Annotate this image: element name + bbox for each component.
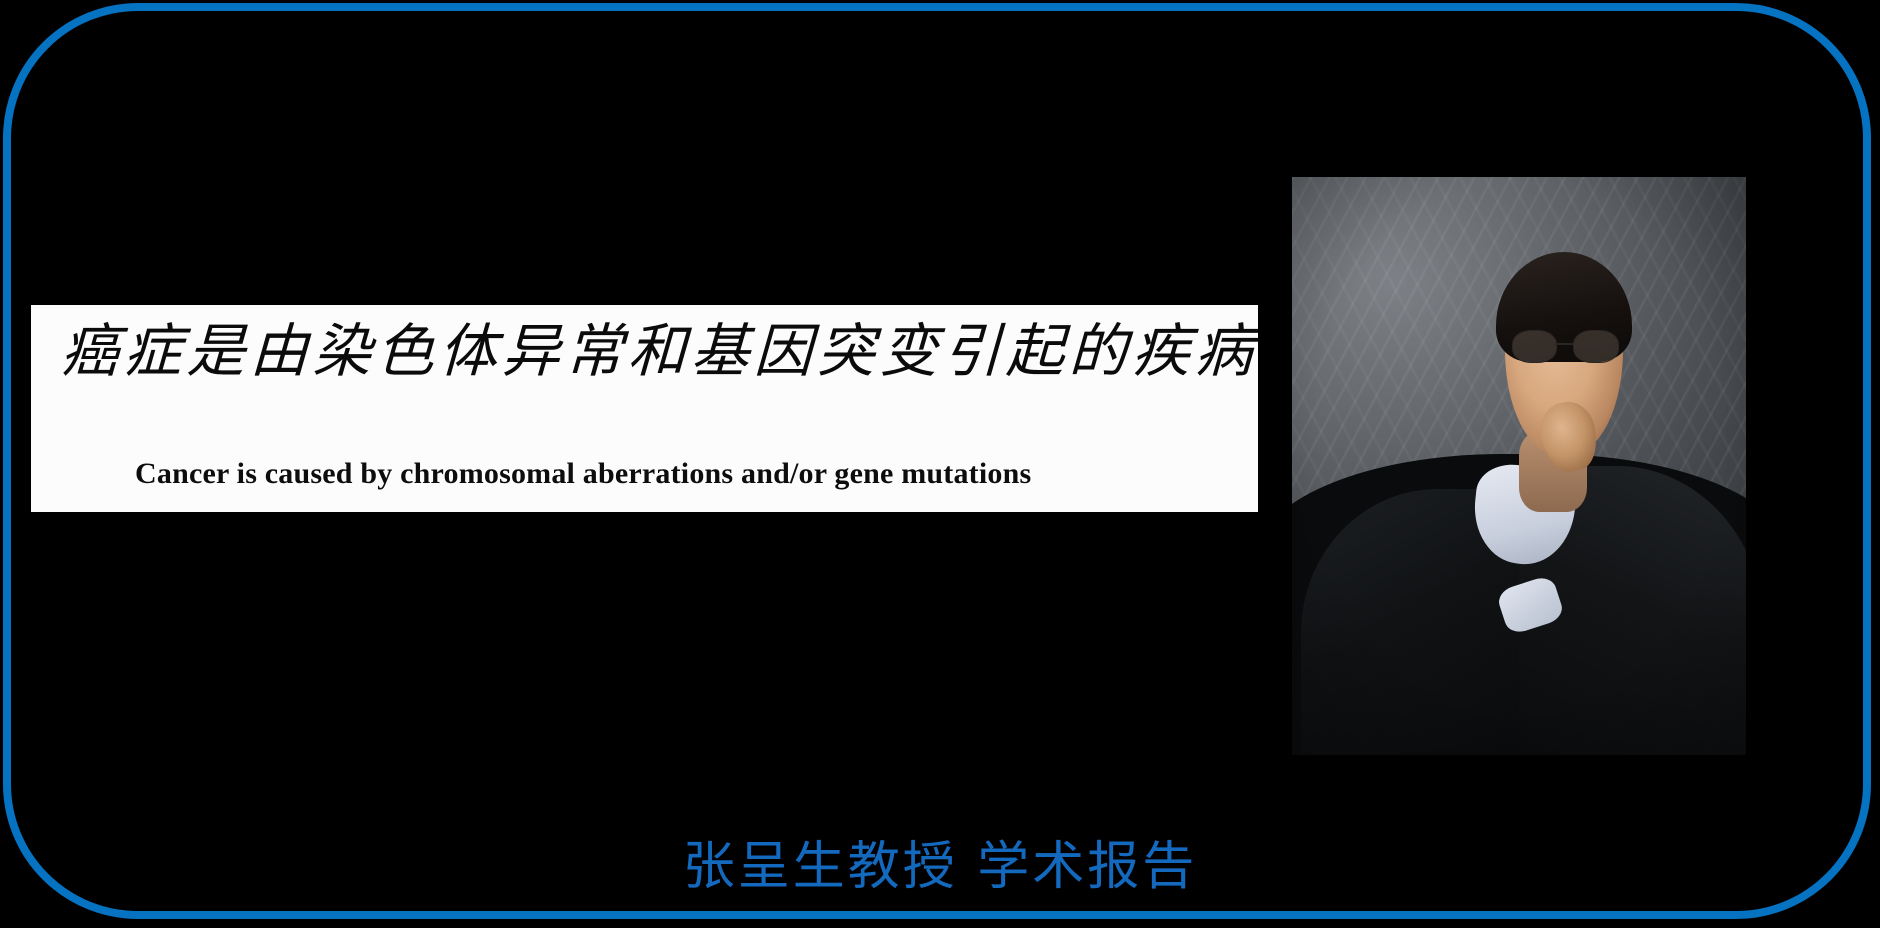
professor-portrait-photo xyxy=(1292,177,1746,755)
portrait-vignette xyxy=(1292,177,1746,755)
slide-caption: 张呈生教授 学术报告 xyxy=(0,824,1880,899)
banner-headline-chinese: 癌症是由染色体异常和基因突变引起的疾病 xyxy=(60,319,1258,384)
banner-subtitle-english: Cancer is caused by chromosomal aberrati… xyxy=(135,457,1031,491)
presentation-slide: 癌症是由染色体异常和基因突变引起的疾病 Cancer is caused by … xyxy=(0,0,1880,928)
title-banner: 癌症是由染色体异常和基因突变引起的疾病 Cancer is caused by … xyxy=(31,305,1258,512)
